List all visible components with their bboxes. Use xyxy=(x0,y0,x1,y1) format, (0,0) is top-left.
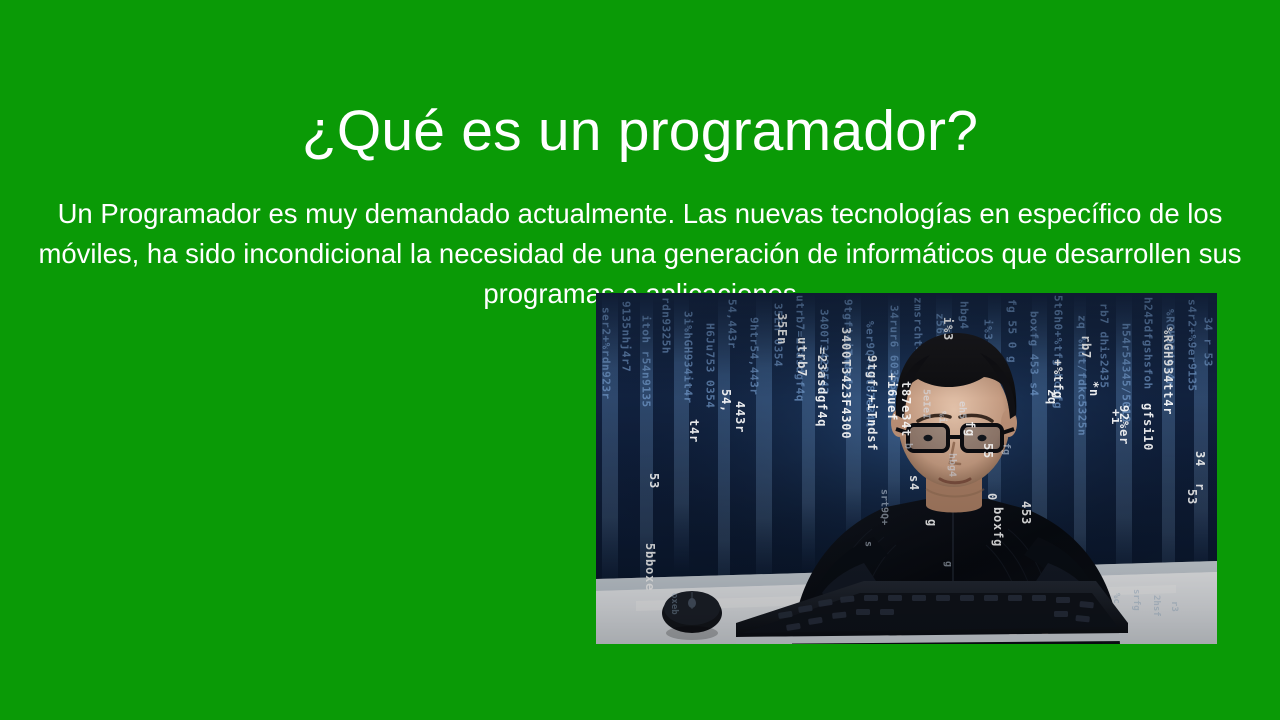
presentation-slide: ¿Qué es un programador? Un Programador e… xyxy=(0,0,1280,720)
page-title: ¿Qué es un programador? xyxy=(0,100,1280,164)
photo-artwork: ser2+%rdn923r 9135nhj4r7 itoh r54n9135 r… xyxy=(596,293,1217,644)
programmer-photo: ser2+%rdn923r 9135nhj4r7 itoh r54n9135 r… xyxy=(596,293,1217,644)
